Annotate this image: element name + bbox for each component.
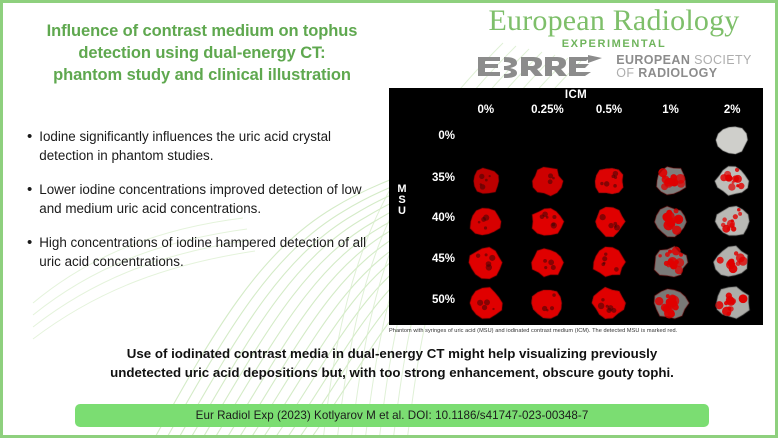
phantom-cell (468, 285, 504, 321)
phantom-blob-icon (591, 285, 627, 321)
key-points-list: • Iodine significantly influences the ur… (27, 127, 367, 286)
bullet-dot-icon: • (27, 180, 32, 201)
bullet-dot-icon: • (27, 233, 32, 254)
phantom-cell (467, 244, 504, 281)
ct-phantom-grid-panel: ICM 0% 0.25% 0.5% 1% 2% M S U 0% 35% 40%… (389, 88, 763, 325)
phantom-blob-icon (652, 284, 690, 322)
key-point-2: Lower iodine concentrations improved det… (39, 180, 367, 218)
esr-line2-light: OF (616, 66, 634, 80)
page-title: Influence of contrast medium on tophus d… (17, 21, 387, 86)
phantom-blob-icon (714, 163, 750, 199)
phantom-cell (713, 283, 752, 322)
journal-logo-block: European Radiology EXPERIMENTAL EUROPEAN… (455, 5, 773, 89)
phantom-cell (468, 204, 503, 239)
phantom-blob-icon (715, 123, 749, 157)
phantom-blob-icon (713, 243, 751, 281)
phantom-blob-icon (714, 203, 751, 240)
esr-line2-bold: RADIOLOGY (638, 66, 717, 80)
icm-column-headers: 0% 0.25% 0.5% 1% 2% (455, 104, 763, 116)
journal-name: European Radiology (455, 5, 773, 37)
phantom-blob-icon (653, 163, 688, 198)
msu-header-4: 50% (411, 294, 455, 306)
icm-header-3: 1% (640, 104, 702, 116)
bullet-dot-icon: • (27, 127, 32, 148)
esr-line1-bold: EUROPEAN (616, 53, 690, 67)
icm-axis-title: ICM (389, 89, 763, 101)
phantom-cell (652, 244, 689, 281)
phantom-blob-icon (652, 244, 689, 281)
phantom-cell (653, 204, 689, 240)
title-line-3: phantom study and clinical illustration (17, 65, 387, 87)
citation-text: Eur Radiol Exp (2023) Kotlyarov M et al.… (196, 409, 589, 422)
icm-header-0: 0% (455, 104, 517, 116)
msu-header-1: 35% (411, 172, 455, 184)
key-point-3: High concentrations of iodine hampered d… (39, 233, 367, 271)
phantom-blob-icon (529, 285, 565, 321)
msu-header-3: 45% (411, 253, 455, 265)
msu-letter-u: U (395, 206, 409, 217)
phantom-blob-icon (713, 283, 752, 322)
phantom-blob-icon (468, 285, 504, 321)
figure-caption: Phantom with syringes of uric acid (MSU)… (389, 325, 763, 335)
graphical-abstract-slide: Influence of contrast medium on tophus d… (0, 0, 778, 438)
esr-line1-light: SOCIETY (694, 53, 752, 67)
phantom-blob-icon (592, 204, 627, 239)
msu-axis-title: M S U (395, 184, 409, 218)
msu-row-headers: 0% 35% 40% 45% 50% (411, 122, 455, 322)
icm-header-2: 0.5% (578, 104, 640, 116)
key-point-1: Iodine significantly influences the uric… (39, 127, 367, 165)
phantom-cell (529, 285, 565, 321)
phantom-blob-icon (591, 244, 627, 280)
phantom-cell (713, 243, 751, 281)
msu-header-0: 0% (411, 130, 455, 142)
phantom-blob-icon (467, 244, 504, 281)
phantom-cell (530, 245, 565, 280)
phantom-cell (652, 284, 690, 322)
phantom-cell (714, 203, 751, 240)
citation-bar[interactable]: Eur Radiol Exp (2023) Kotlyarov M et al.… (75, 404, 709, 427)
phantom-cell (470, 165, 502, 197)
list-item: • Lower iodine concentrations improved d… (27, 180, 367, 218)
phantom-blob-icon (468, 204, 503, 239)
phantom-cell (591, 285, 627, 321)
phantom-cell (530, 164, 564, 198)
phantom-cell (592, 164, 626, 198)
phantom-cell (591, 244, 627, 280)
icm-header-4: 2% (701, 104, 763, 116)
title-line-2: detection using dual-energy CT: (17, 43, 387, 65)
phantom-cell (653, 163, 688, 198)
icm-header-1: 0.25% (517, 104, 579, 116)
list-item: • Iodine significantly influences the ur… (27, 127, 367, 165)
journal-subtitle: EXPERIMENTAL (455, 38, 773, 50)
phantom-blob-icon (530, 204, 565, 239)
phantom-blob-icon (530, 245, 565, 280)
esr-wordmark-icon (476, 54, 608, 80)
list-item: • High concentrations of iodine hampered… (27, 233, 367, 271)
ct-figure: ICM 0% 0.25% 0.5% 1% 2% M S U 0% 35% 40%… (389, 88, 763, 335)
conclusion-line-1: Use of iodinated contrast media in dual-… (25, 345, 759, 364)
title-line-1: Influence of contrast medium on tophus (17, 21, 387, 43)
conclusion-text: Use of iodinated contrast media in dual-… (25, 345, 759, 383)
phantom-blob-icon (470, 165, 502, 197)
phantom-cell (530, 204, 565, 239)
esr-society-text: EUROPEAN SOCIETY OF RADIOLOGY (616, 54, 752, 81)
phantom-cell (715, 123, 749, 157)
phantom-cell (714, 163, 750, 199)
phantom-blob-icon (530, 164, 564, 198)
phantom-cell-grid (455, 120, 763, 323)
phantom-blob-icon (592, 164, 626, 198)
msu-header-2: 40% (411, 212, 455, 224)
esr-logo: EUROPEAN SOCIETY OF RADIOLOGY (455, 54, 773, 81)
phantom-blob-icon (653, 204, 689, 240)
conclusion-line-2: undetected uric acid depositions but, wi… (25, 364, 759, 383)
phantom-cell (592, 204, 627, 239)
